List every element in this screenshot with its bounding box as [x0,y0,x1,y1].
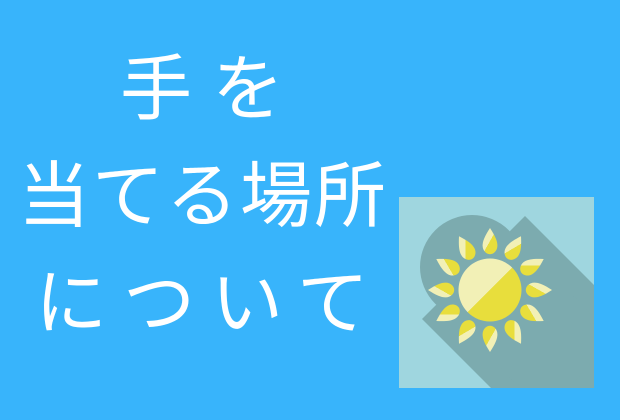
promo-banner: 手を 当てる場所 について [0,0,620,420]
headline-line-2: 当てる場所 [0,143,404,250]
headline-block: 手を 当てる場所 について [0,36,404,357]
headline-line-1: 手を [0,36,404,143]
headline-line-3: について [0,250,404,357]
sun-graphic [421,221,559,359]
sun-icon-tile [399,197,594,388]
sun-svg [421,221,559,359]
